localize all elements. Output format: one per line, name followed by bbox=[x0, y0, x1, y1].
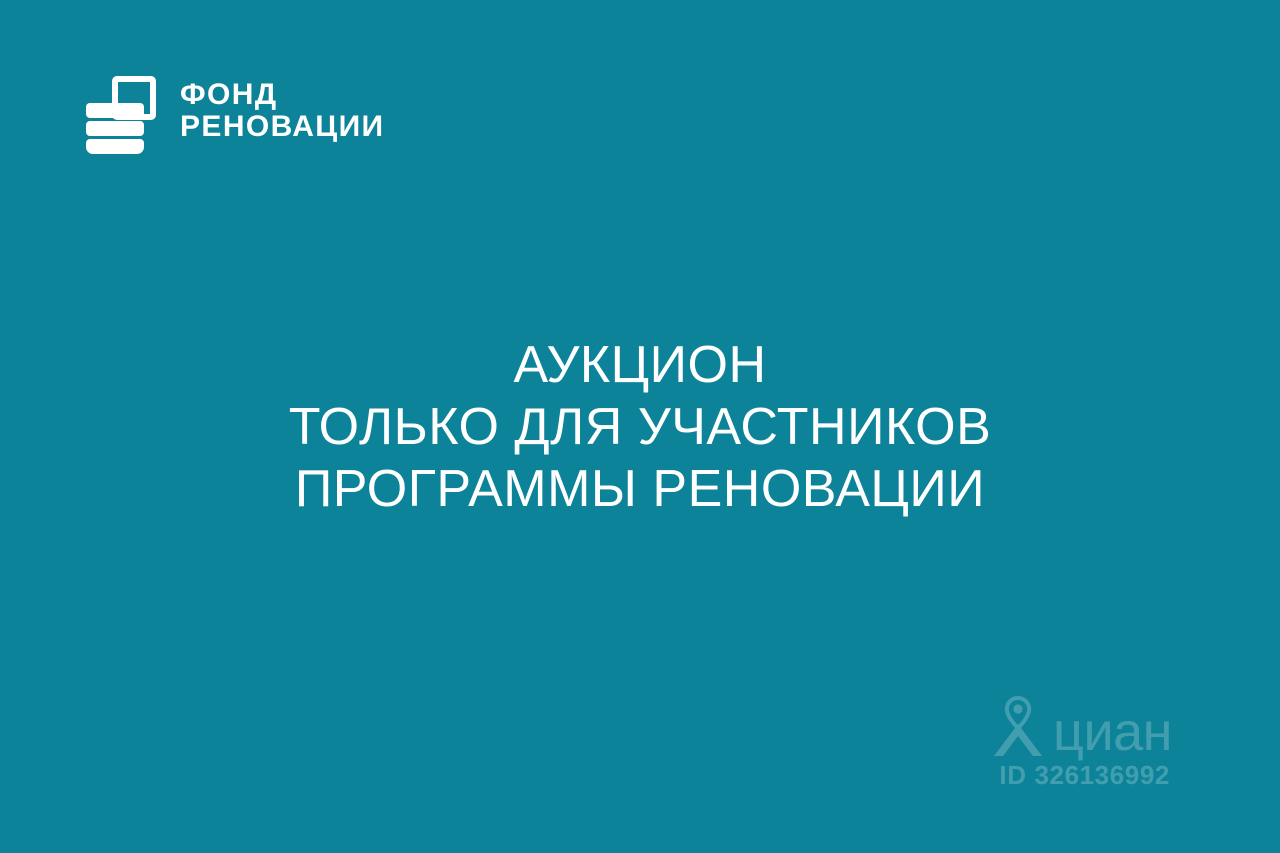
headline-line-3: ПРОГРАММЫ РЕНОВАЦИИ bbox=[295, 458, 985, 520]
document-stack-icon bbox=[84, 70, 162, 152]
cian-watermark-brand-row: циан bbox=[989, 696, 1172, 758]
headline-line-2: ТОЛЬКО ДЛЯ УЧАСТНИКОВ bbox=[289, 396, 992, 458]
banner-canvas: ФОНД РЕНОВАЦИИ АУКЦИОН ТОЛЬКО ДЛЯ УЧАСТН… bbox=[0, 0, 1280, 853]
headline-line-1: АУКЦИОН bbox=[513, 334, 766, 396]
brand-logo: ФОНД РЕНОВАЦИИ bbox=[84, 70, 385, 152]
cian-listing-id: ID 326136992 bbox=[989, 760, 1172, 791]
cian-brand-text: циан bbox=[1053, 708, 1172, 758]
cian-watermark: циан ID 326136992 bbox=[989, 696, 1172, 791]
stack-bar-bottom bbox=[86, 139, 144, 154]
cian-pin-icon bbox=[989, 696, 1047, 758]
stack-bar-middle bbox=[86, 121, 144, 136]
brand-wordmark: ФОНД РЕНОВАЦИИ bbox=[180, 79, 385, 143]
stack-bar-top bbox=[86, 103, 144, 118]
brand-wordmark-line-2: РЕНОВАЦИИ bbox=[180, 111, 385, 143]
brand-wordmark-line-1: ФОНД bbox=[180, 79, 385, 111]
